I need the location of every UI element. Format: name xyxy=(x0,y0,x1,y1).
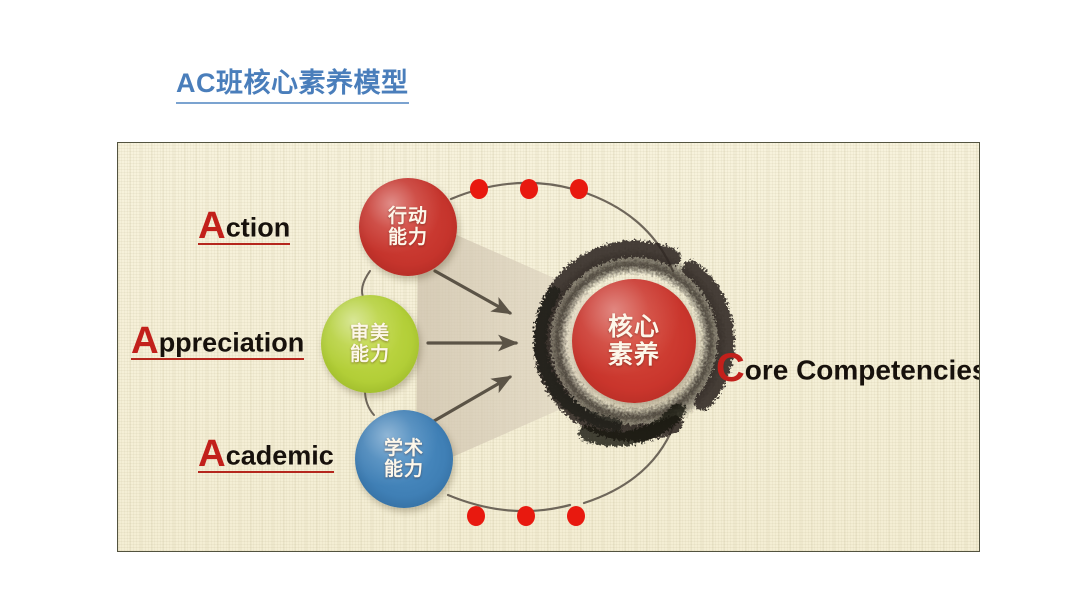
bubble-action-line1: 行动 xyxy=(388,206,428,227)
bubble-core-line1: 核心 xyxy=(608,313,660,341)
label-core-competencies: Core Competencies xyxy=(716,353,980,385)
page-title: AC班核心素养模型 xyxy=(176,68,409,104)
bubble-appreciation-line2: 能力 xyxy=(350,344,390,365)
bubble-core-competency[interactable]: 核心 素养 xyxy=(572,279,696,403)
bubble-appreciation-line1: 审美 xyxy=(350,323,390,344)
label-appreciation-rest: ppreciation xyxy=(159,328,305,358)
bubble-academic-line2: 能力 xyxy=(384,459,424,480)
red-dot xyxy=(570,179,588,199)
red-dot xyxy=(467,506,485,526)
bubble-academic[interactable]: 学术 能力 xyxy=(355,410,453,508)
label-core-initial: C xyxy=(716,346,745,390)
label-academic: Academic xyxy=(198,439,334,473)
label-appreciation-initial: A xyxy=(131,319,159,362)
label-academic-rest: cademic xyxy=(226,441,334,471)
bubble-core-line2: 素养 xyxy=(608,341,660,369)
label-action-initial: A xyxy=(198,204,226,247)
bubble-action-line2: 能力 xyxy=(388,227,428,248)
label-action-rest: ction xyxy=(226,213,291,243)
dot-ring-top xyxy=(470,179,588,199)
label-core-rest: ore Competencies xyxy=(745,355,980,386)
red-dot xyxy=(470,179,488,199)
red-dot xyxy=(517,506,535,526)
bubble-action[interactable]: 行动 能力 xyxy=(359,178,457,276)
label-appreciation: Appreciation xyxy=(131,326,304,360)
label-academic-initial: A xyxy=(198,432,226,475)
red-dot xyxy=(567,506,585,526)
dot-ring-bottom xyxy=(467,506,585,526)
label-action: Action xyxy=(198,211,290,245)
red-dot xyxy=(520,179,538,199)
diagram-panel: 行动 能力 审美 能力 学术 能力 核心 素养 Action Appreciat… xyxy=(117,142,980,552)
bubble-academic-line1: 学术 xyxy=(384,438,424,459)
bubble-appreciation[interactable]: 审美 能力 xyxy=(321,295,419,393)
